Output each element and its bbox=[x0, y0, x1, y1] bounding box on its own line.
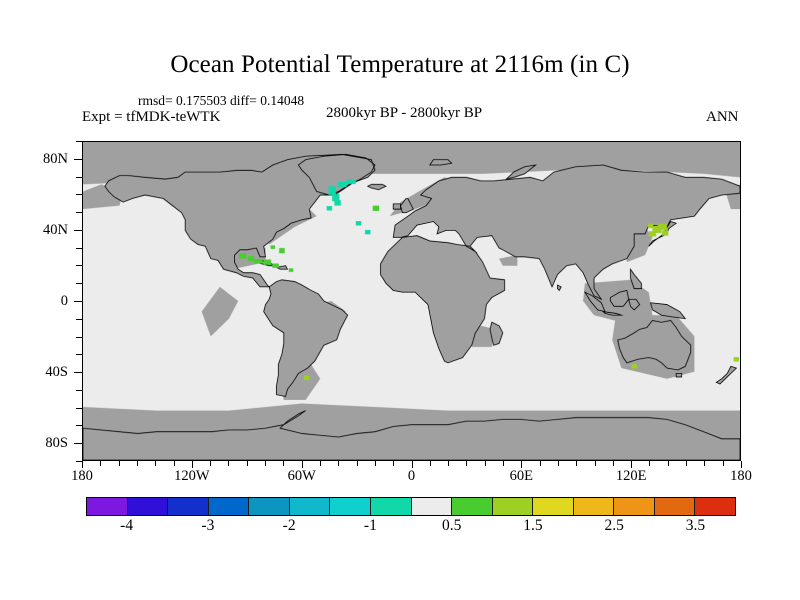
colorbar-segment bbox=[574, 498, 615, 515]
x-axis-tick bbox=[338, 461, 339, 466]
x-axis-tick bbox=[430, 461, 431, 466]
y-axis-label: 40N bbox=[43, 222, 68, 238]
x-axis-label: 60E bbox=[510, 468, 533, 484]
x-axis-tick bbox=[265, 461, 266, 466]
x-axis-tick bbox=[320, 461, 321, 466]
colorbar-segment bbox=[290, 498, 331, 515]
colorbar-tick-label: -1 bbox=[364, 517, 377, 535]
y-axis-tick bbox=[76, 283, 82, 284]
x-axis-tick bbox=[613, 461, 614, 466]
x-axis-tick bbox=[119, 461, 120, 466]
x-axis-tick bbox=[521, 461, 522, 468]
x-axis-tick bbox=[137, 461, 138, 466]
page-title: Ocean Potential Temperature at 2116m (in… bbox=[0, 50, 800, 80]
colorbar-tick-label: -2 bbox=[283, 517, 296, 535]
y-axis-tick bbox=[74, 372, 82, 373]
y-axis-label: 80N bbox=[43, 151, 68, 167]
x-axis-tick bbox=[668, 461, 669, 466]
colorbar-segment bbox=[412, 498, 453, 515]
colorbar-segment bbox=[128, 498, 169, 515]
x-axis-label: 120W bbox=[174, 468, 209, 484]
x-axis-tick bbox=[466, 461, 467, 466]
x-axis-tick bbox=[576, 461, 577, 466]
y-axis-tick bbox=[76, 337, 82, 338]
colorbar-segment bbox=[87, 498, 128, 515]
x-axis-label: 60W bbox=[288, 468, 316, 484]
x-axis-tick bbox=[100, 461, 101, 466]
rmsd-stats-label: rmsd= 0.175503 diff= 0.14048 bbox=[138, 93, 304, 109]
colorbar-tick-label: 0.5 bbox=[442, 517, 461, 535]
x-axis-tick bbox=[192, 461, 193, 468]
x-axis-tick bbox=[503, 461, 504, 466]
y-axis-tick bbox=[74, 159, 82, 160]
x-axis-tick bbox=[631, 461, 632, 468]
colorbar-segment bbox=[249, 498, 290, 515]
y-axis-tick bbox=[76, 425, 82, 426]
x-axis-tick bbox=[448, 461, 449, 466]
y-axis-tick bbox=[76, 141, 82, 142]
y-axis-tick bbox=[76, 212, 82, 213]
colorbar-tick-label: 1.5 bbox=[523, 517, 542, 535]
x-axis-tick bbox=[228, 461, 229, 466]
colorbar-segment bbox=[452, 498, 493, 515]
y-axis-tick bbox=[76, 319, 82, 320]
colorbar-tick-label: -4 bbox=[120, 517, 133, 535]
x-axis-label: 0 bbox=[408, 468, 415, 484]
y-axis-tick bbox=[76, 265, 82, 266]
x-axis-tick bbox=[302, 461, 303, 468]
x-axis-tick bbox=[540, 461, 541, 466]
x-axis-tick bbox=[82, 461, 83, 468]
x-axis-tick bbox=[174, 461, 175, 466]
x-axis-tick bbox=[704, 461, 705, 466]
colorbar-segment bbox=[614, 498, 655, 515]
colorbar-tick-label: 3.5 bbox=[686, 517, 705, 535]
y-axis-tick bbox=[74, 443, 82, 444]
x-axis-tick bbox=[210, 461, 211, 466]
colorbar-segment bbox=[695, 498, 735, 515]
x-axis-tick bbox=[485, 461, 486, 466]
y-axis-label: 80S bbox=[45, 435, 68, 451]
map-plot-area bbox=[82, 141, 741, 461]
y-axis-label: 40S bbox=[45, 364, 68, 380]
colorbar-tick-label: -3 bbox=[201, 517, 214, 535]
x-axis-label: 120E bbox=[616, 468, 647, 484]
x-axis-label: 180 bbox=[71, 468, 93, 484]
y-axis-tick bbox=[76, 390, 82, 391]
x-axis-tick bbox=[558, 461, 559, 466]
x-axis-label: 180 bbox=[730, 468, 752, 484]
y-axis-label: 0 bbox=[61, 293, 68, 309]
x-axis-tick bbox=[393, 461, 394, 466]
y-axis-tick bbox=[76, 248, 82, 249]
x-axis-tick bbox=[741, 461, 742, 468]
y-axis-tick bbox=[76, 177, 82, 178]
colorbar bbox=[86, 497, 736, 516]
x-axis-tick bbox=[412, 461, 413, 468]
experiment-label: Expt = tfMDK-teWTK bbox=[82, 108, 220, 126]
y-axis-tick bbox=[76, 194, 82, 195]
x-axis-tick bbox=[283, 461, 284, 466]
colorbar-segment bbox=[655, 498, 696, 515]
colorbar-segment bbox=[493, 498, 534, 515]
colorbar-tick-label: 2.5 bbox=[604, 517, 623, 535]
x-axis-tick bbox=[247, 461, 248, 466]
x-axis-tick bbox=[595, 461, 596, 466]
colorbar-segment bbox=[533, 498, 574, 515]
colorbar-segment bbox=[371, 498, 412, 515]
period-label: 2800kyr BP - 2800kyr BP bbox=[326, 104, 482, 122]
y-axis-tick bbox=[74, 230, 82, 231]
x-axis-tick bbox=[686, 461, 687, 466]
x-axis-tick bbox=[375, 461, 376, 466]
x-axis-tick bbox=[723, 461, 724, 466]
colorbar-segment bbox=[168, 498, 209, 515]
world-map-heatmap bbox=[83, 142, 740, 460]
colorbar-segment bbox=[330, 498, 371, 515]
colorbar-segment bbox=[209, 498, 250, 515]
y-axis-tick bbox=[76, 354, 82, 355]
x-axis-tick bbox=[357, 461, 358, 466]
season-label: ANN bbox=[706, 108, 739, 126]
x-axis-tick bbox=[649, 461, 650, 466]
y-axis-tick bbox=[74, 301, 82, 302]
y-axis-tick bbox=[76, 408, 82, 409]
x-axis-tick bbox=[155, 461, 156, 466]
